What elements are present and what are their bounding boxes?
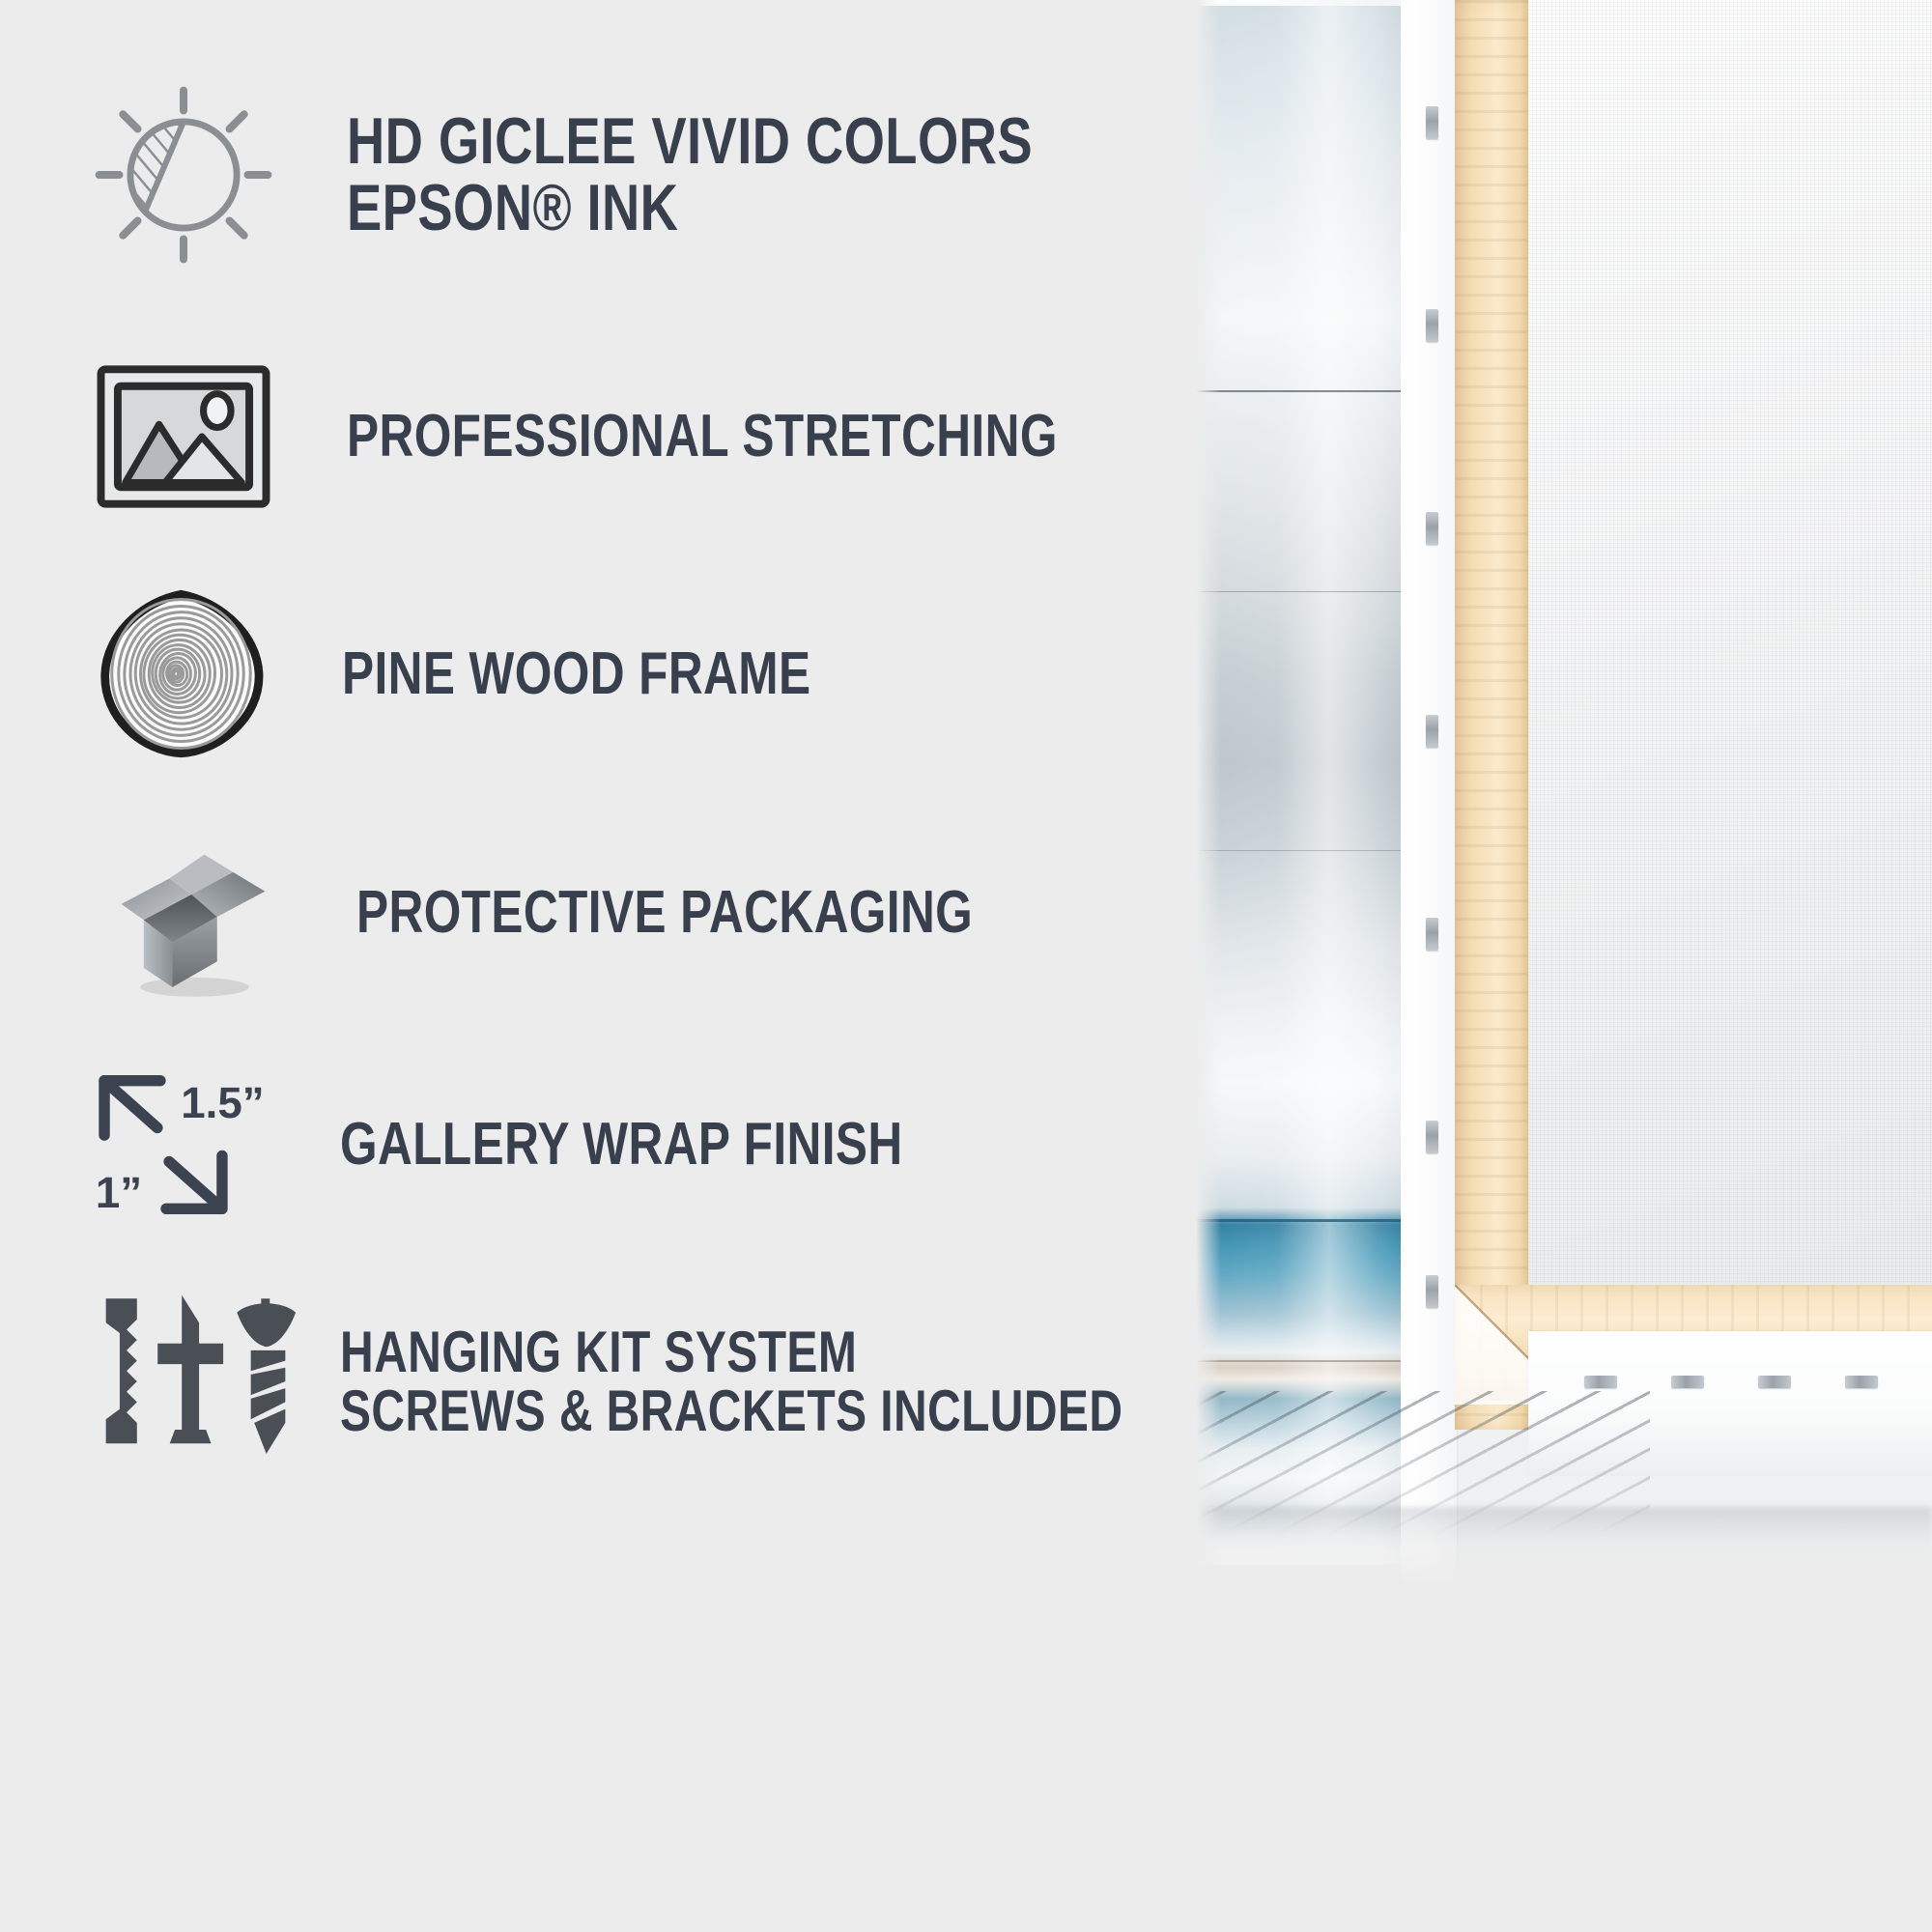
staple-icon xyxy=(1426,1121,1438,1153)
picture-frame-icon xyxy=(92,359,275,514)
feature-label-line: GALLERY WRAP FINISH xyxy=(340,1114,903,1175)
depth-label-bottom: 1” xyxy=(96,1168,142,1217)
staple-icon xyxy=(1426,918,1438,951)
staple-icon xyxy=(1426,309,1438,342)
feature-label-gallery-wrap-finish: GALLERY WRAP FINISH xyxy=(340,1114,903,1175)
canvas-top-face xyxy=(1196,0,1410,6)
feature-row-protective-packaging: PROTECTIVE PACKAGING xyxy=(92,821,1127,1005)
feature-row-hd-giclee: HD GICLEE VIVID COLORS EPSON® INK xyxy=(92,83,1205,267)
staple-icon xyxy=(1426,512,1438,545)
feature-row-pine-wood-frame: PINE WOOD FRAME xyxy=(92,589,928,758)
staple-icon xyxy=(1845,1376,1878,1388)
feature-label-line: PINE WOOD FRAME xyxy=(342,643,810,704)
feature-label-hd-giclee: HD GICLEE VIVID COLORS EPSON® INK xyxy=(347,108,1033,242)
depth-arrows-icon: 1.5” 1” xyxy=(92,1067,299,1222)
open-box-icon xyxy=(92,821,285,1005)
feature-label-line: EPSON® INK xyxy=(347,175,1033,241)
feature-label-professional-stretching: PROFESSIONAL STRETCHING xyxy=(347,406,1058,467)
staple-icon xyxy=(1426,1275,1438,1308)
feature-label-line: PROTECTIVE PACKAGING xyxy=(356,882,973,943)
feature-label-hanging-kit: HANGING KIT SYSTEM SCREWS & BRACKETS INC… xyxy=(340,1322,1122,1440)
feature-label-line: HD GICLEE VIVID COLORS xyxy=(347,108,1033,175)
staple-icon xyxy=(1426,106,1438,139)
feature-label-line: PROFESSIONAL STRETCHING xyxy=(347,406,1058,467)
staple-icon xyxy=(1758,1376,1791,1388)
staple-icon xyxy=(1584,1376,1617,1388)
feature-list: HD GICLEE VIVID COLORS EPSON® INK PROFES… xyxy=(0,0,1207,1932)
canvas-seam-line xyxy=(1196,1219,1410,1222)
feature-label-pine-wood-frame: PINE WOOD FRAME xyxy=(342,643,810,704)
feature-label-line: HANGING KIT SYSTEM xyxy=(340,1322,1122,1381)
staple-icon xyxy=(1426,715,1438,748)
sun-brightness-icon xyxy=(92,83,275,267)
canvas-seam-line xyxy=(1196,591,1410,592)
feature-row-hanging-kit: HANGING KIT SYSTEM SCREWS & BRACKETS INC… xyxy=(92,1285,1319,1478)
staple-icon xyxy=(1671,1376,1704,1388)
pine-stretcher-bar-vertical xyxy=(1455,0,1532,1430)
canvas-seam-line xyxy=(1196,850,1410,851)
depth-label-top: 1.5” xyxy=(181,1078,264,1127)
photo-edge-fade xyxy=(1196,1517,1932,1584)
tree-rings-icon xyxy=(92,589,270,758)
canvas-back-fabric xyxy=(1528,0,1932,1348)
feature-label-line: SCREWS & BRACKETS INCLUDED xyxy=(340,1381,1122,1440)
feature-row-professional-stretching: PROFESSIONAL STRETCHING xyxy=(92,359,1236,514)
feature-label-protective-packaging: PROTECTIVE PACKAGING xyxy=(356,882,973,943)
feature-row-gallery-wrap-finish: 1.5” 1” GALLERY WRAP FINISH xyxy=(92,1067,1043,1222)
canvas-side-return xyxy=(1401,0,1457,1584)
hardware-icon xyxy=(92,1285,299,1478)
